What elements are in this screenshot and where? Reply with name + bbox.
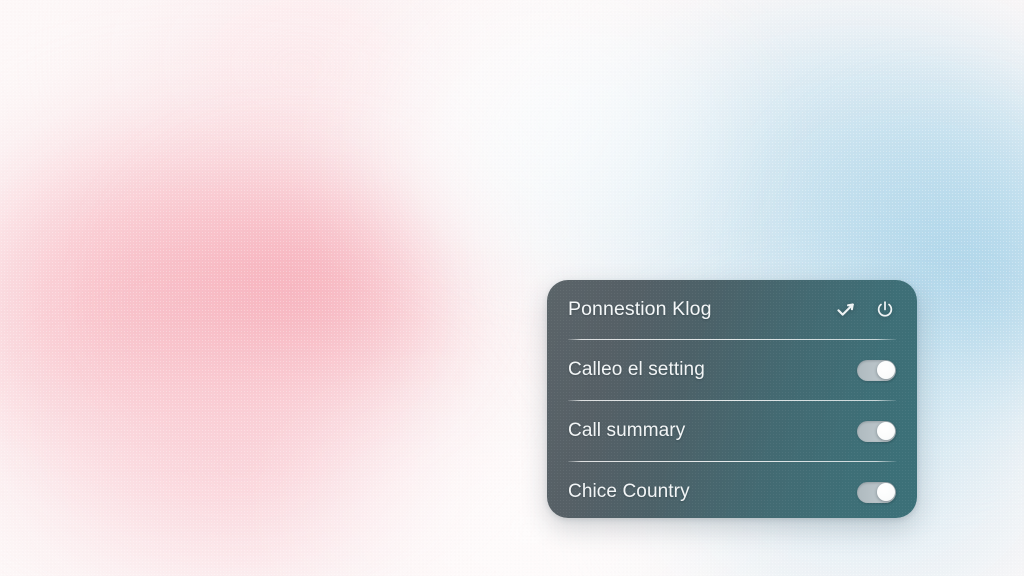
toggle-calleo-el-setting[interactable] [857,360,896,381]
setting-label: Calleo el setting [568,359,705,381]
watercolor-blob-pink-main [0,120,480,520]
toggle-knob [877,361,895,379]
setting-row-chice-country[interactable]: Chice Country [568,462,896,518]
watercolor-blob-white-center [360,0,740,280]
watercolor-blob-pink-deep [150,175,450,405]
watercolor-blob-pink-low [30,360,450,576]
toggle-knob [877,483,895,501]
setting-label: Chice Country [568,481,690,503]
toggle-call-summary[interactable] [857,421,896,442]
card-header-row: Ponnestion Klog [568,280,896,339]
setting-label: Call summary [568,420,685,442]
settings-card: Ponnestion Klog Calleo el setting [547,280,917,518]
check-trend-icon[interactable] [835,299,857,321]
watercolor-blob-pink-top [100,0,500,180]
toggle-chice-country[interactable] [857,482,896,503]
card-title: Ponnestion Klog [568,298,712,321]
header-icon-group [835,299,896,321]
setting-row-call-summary[interactable]: Call summary [568,401,896,461]
toggle-knob [877,422,895,440]
power-icon[interactable] [874,299,896,321]
setting-row-calleo-el-setting[interactable]: Calleo el setting [568,340,896,400]
watercolor-blob-blue-wisp [440,30,740,250]
